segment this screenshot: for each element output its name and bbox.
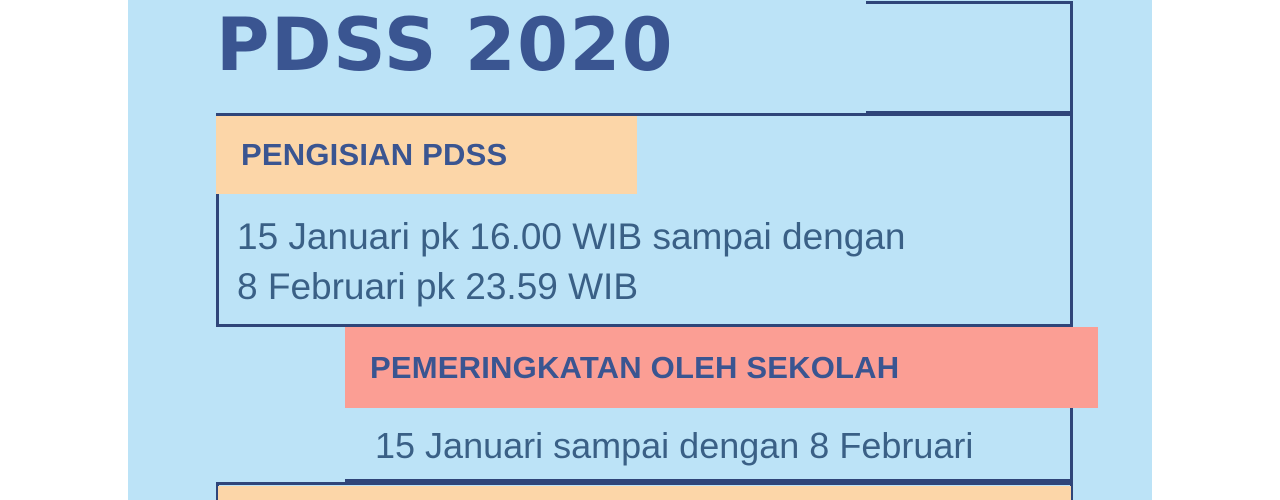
section-1-right-rule: [1070, 113, 1073, 327]
section-2-body: 15 Januari sampai dengan 8 Februari: [375, 421, 973, 471]
section-2-line-1: 15 Januari sampai dengan 8 Februari: [375, 421, 973, 471]
page-title: PDSS 2020: [216, 0, 1076, 98]
section-3-label-partial: [218, 486, 1071, 500]
section-1-line-1: 15 Januari pk 16.00 WIB sampai dengan: [237, 212, 905, 262]
section-1-label-pengisian-pdss: PENGISIAN PDSS: [216, 116, 637, 194]
section-1-body: 15 Januari pk 16.00 WIB sampai dengan 8 …: [237, 212, 905, 312]
slide-canvas: PDSS 2020 PENGISIAN PDSS 15 Januari pk 1…: [0, 0, 1280, 500]
section-1-line-2: 8 Februari pk 23.59 WIB: [237, 262, 905, 312]
section-3-top-rule: [216, 482, 1073, 485]
section-2-label-pemeringkatan-oleh-sekolah: PEMERINGKATAN OLEH SEKOLAH: [345, 327, 1098, 408]
